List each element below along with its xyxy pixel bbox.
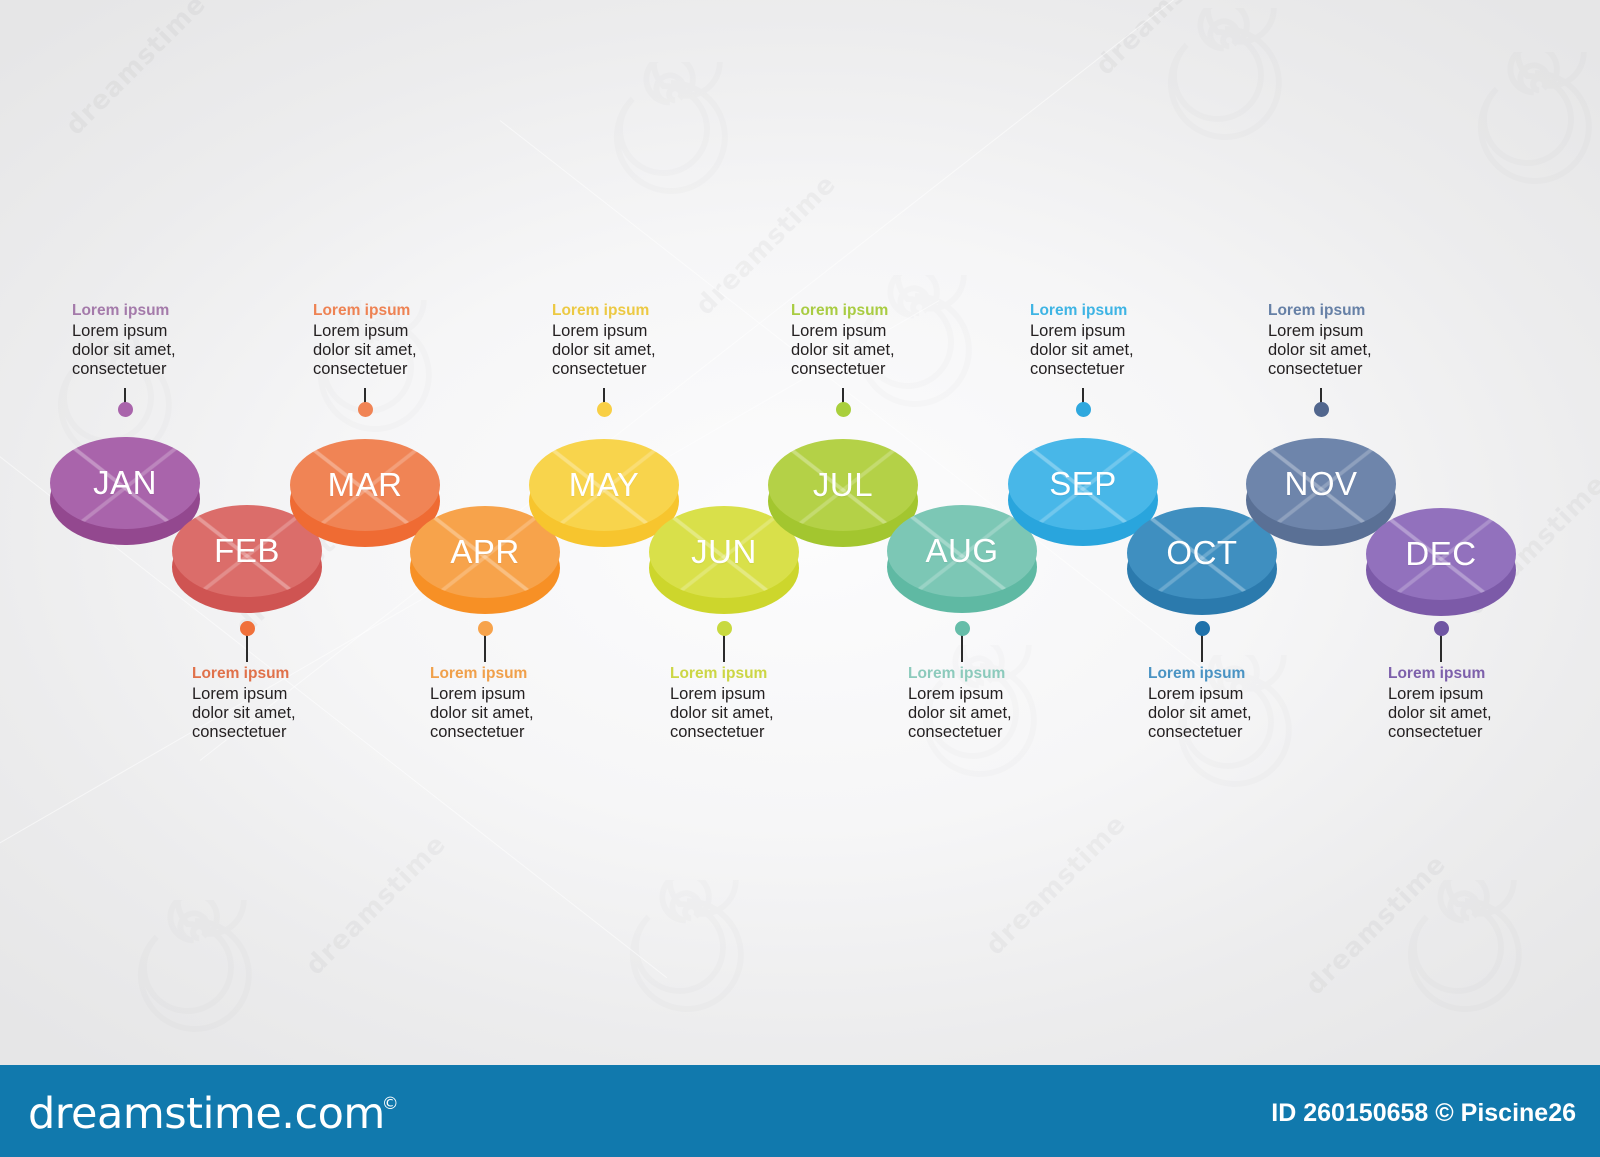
timeline-marker-dot-may[interactable] bbox=[597, 402, 612, 417]
step-body-text: Lorem ipsum dolor sit amet, consectetuer bbox=[670, 685, 885, 742]
timeline-marker-dot-sep[interactable] bbox=[1076, 402, 1091, 417]
step-description-mar: Lorem ipsumLorem ipsum dolor sit amet, c… bbox=[313, 302, 528, 379]
step-description-nov: Lorem ipsumLorem ipsum dolor sit amet, c… bbox=[1268, 302, 1483, 379]
dreamstime-footer-bar: dreamstime.com© ID 260150658 © Piscine26 bbox=[0, 1065, 1600, 1157]
month-label: JUL bbox=[813, 466, 873, 504]
timeline-marker-dot-aug[interactable] bbox=[955, 621, 970, 636]
image-id-credit: ID 260150658 © Piscine26 bbox=[1271, 1099, 1576, 1128]
dreamstime-logo: dreamstime.com© bbox=[28, 1093, 401, 1136]
watermark-diagonal-line bbox=[0, 300, 667, 978]
dreamstime-wordmark: dreamstime.com bbox=[28, 1089, 385, 1139]
step-body-text: Lorem ipsum dolor sit amet, consectetuer bbox=[1388, 685, 1600, 742]
month-label: MAY bbox=[569, 466, 640, 504]
step-body-text: Lorem ipsum dolor sit amet, consectetuer bbox=[1148, 685, 1363, 742]
watermark-spiral-icon bbox=[612, 880, 762, 1030]
connector-stem bbox=[246, 634, 248, 662]
timeline-marker-dot-mar[interactable] bbox=[358, 402, 373, 417]
step-description-feb: Lorem ipsumLorem ipsum dolor sit amet, c… bbox=[192, 665, 407, 742]
step-heading: Lorem ipsum bbox=[1268, 302, 1483, 320]
month-label: APR bbox=[450, 533, 519, 571]
timeline-marker-dot-feb[interactable] bbox=[240, 621, 255, 636]
watermark-spiral-icon bbox=[1460, 52, 1600, 202]
step-heading: Lorem ipsum bbox=[1148, 665, 1363, 683]
connector-stem bbox=[1440, 634, 1442, 662]
connector-stem bbox=[1201, 634, 1203, 662]
watermark-diagonal-line bbox=[200, 0, 1225, 761]
month-node-face: DEC bbox=[1366, 508, 1516, 600]
watermark-spiral-icon bbox=[596, 62, 746, 212]
step-body-text: Lorem ipsum dolor sit amet, consectetuer bbox=[1030, 322, 1245, 379]
watermark-spiral-icon bbox=[1390, 880, 1540, 1030]
timeline-marker-dot-nov[interactable] bbox=[1314, 402, 1329, 417]
watermark-spiral-icon bbox=[120, 900, 270, 1050]
step-heading: Lorem ipsum bbox=[791, 302, 1006, 320]
month-label: JAN bbox=[93, 464, 157, 502]
step-body-text: Lorem ipsum dolor sit amet, consectetuer bbox=[552, 322, 767, 379]
step-heading: Lorem ipsum bbox=[1030, 302, 1245, 320]
timeline-marker-dot-oct[interactable] bbox=[1195, 621, 1210, 636]
month-label: AUG bbox=[925, 532, 998, 570]
watermark-text: dreamstime bbox=[300, 829, 452, 981]
step-heading: Lorem ipsum bbox=[908, 665, 1123, 683]
step-description-may: Lorem ipsumLorem ipsum dolor sit amet, c… bbox=[552, 302, 767, 379]
step-description-sep: Lorem ipsumLorem ipsum dolor sit amet, c… bbox=[1030, 302, 1245, 379]
step-body-text: Lorem ipsum dolor sit amet, consectetuer bbox=[72, 322, 287, 379]
step-body-text: Lorem ipsum dolor sit amet, consectetuer bbox=[908, 685, 1123, 742]
timeline-marker-dot-jan[interactable] bbox=[118, 402, 133, 417]
watermark-text: dreamstime bbox=[1300, 849, 1452, 1001]
month-label: SEP bbox=[1049, 465, 1117, 503]
watermark-diagonal-line bbox=[500, 120, 1210, 675]
month-label: JUN bbox=[691, 533, 757, 571]
step-heading: Lorem ipsum bbox=[552, 302, 767, 320]
step-body-text: Lorem ipsum dolor sit amet, consectetuer bbox=[192, 685, 407, 742]
step-description-aug: Lorem ipsumLorem ipsum dolor sit amet, c… bbox=[908, 665, 1123, 742]
month-label: NOV bbox=[1284, 465, 1357, 503]
step-description-jan: Lorem ipsumLorem ipsum dolor sit amet, c… bbox=[72, 302, 287, 379]
watermark-text: dreamstime bbox=[60, 0, 212, 141]
step-description-jul: Lorem ipsumLorem ipsum dolor sit amet, c… bbox=[791, 302, 1006, 379]
watermark-spiral-icon bbox=[1150, 8, 1300, 158]
step-heading: Lorem ipsum bbox=[670, 665, 885, 683]
connector-stem bbox=[961, 634, 963, 662]
registered-mark-icon: © bbox=[382, 1094, 399, 1114]
watermark-text: dreamstime bbox=[1090, 0, 1242, 81]
step-description-jun: Lorem ipsumLorem ipsum dolor sit amet, c… bbox=[670, 665, 885, 742]
step-description-apr: Lorem ipsumLorem ipsum dolor sit amet, c… bbox=[430, 665, 645, 742]
watermark-text: dreamstime bbox=[980, 809, 1132, 961]
step-body-text: Lorem ipsum dolor sit amet, consectetuer bbox=[1268, 322, 1483, 379]
connector-stem bbox=[484, 634, 486, 662]
timeline-marker-dot-dec[interactable] bbox=[1434, 621, 1449, 636]
step-body-text: Lorem ipsum dolor sit amet, consectetuer bbox=[430, 685, 645, 742]
step-description-oct: Lorem ipsumLorem ipsum dolor sit amet, c… bbox=[1148, 665, 1363, 742]
month-label: OCT bbox=[1166, 534, 1237, 572]
step-body-text: Lorem ipsum dolor sit amet, consectetuer bbox=[313, 322, 528, 379]
step-heading: Lorem ipsum bbox=[430, 665, 645, 683]
step-heading: Lorem ipsum bbox=[313, 302, 528, 320]
month-label: FEB bbox=[214, 532, 280, 570]
month-label: DEC bbox=[1405, 535, 1476, 573]
step-heading: Lorem ipsum bbox=[1388, 665, 1600, 683]
timeline-marker-dot-apr[interactable] bbox=[478, 621, 493, 636]
month-node-dec[interactable]: DEC bbox=[1366, 508, 1516, 616]
connector-stem bbox=[723, 634, 725, 662]
watermark-text: dreamstime bbox=[690, 169, 842, 321]
month-label: MAR bbox=[328, 466, 403, 504]
infographic-canvas: dreamstimedreamstimedreamstimedreamstime… bbox=[0, 0, 1600, 1157]
timeline-marker-dot-jun[interactable] bbox=[717, 621, 732, 636]
step-heading: Lorem ipsum bbox=[72, 302, 287, 320]
timeline-marker-dot-jul[interactable] bbox=[836, 402, 851, 417]
step-heading: Lorem ipsum bbox=[192, 665, 407, 683]
step-body-text: Lorem ipsum dolor sit amet, consectetuer bbox=[791, 322, 1006, 379]
step-description-dec: Lorem ipsumLorem ipsum dolor sit amet, c… bbox=[1388, 665, 1600, 742]
